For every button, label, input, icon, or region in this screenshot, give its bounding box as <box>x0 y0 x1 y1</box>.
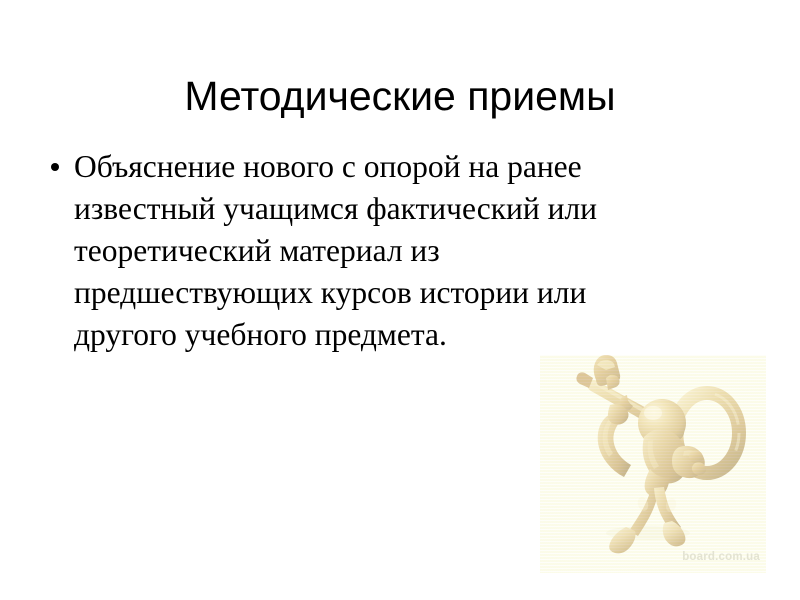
body-content: Объяснение нового с опорой на ранее изве… <box>48 146 688 356</box>
page-title: Методические приемы <box>40 71 760 121</box>
figure-legs <box>609 487 685 553</box>
list-item-label: Объяснение нового с опорой на ранее изве… <box>74 146 684 356</box>
golden-key-figure-image: board.com.ua <box>540 355 766 573</box>
key-bit <box>576 355 620 390</box>
figure-raised-arm <box>598 404 631 477</box>
image-watermark: board.com.ua <box>682 551 760 563</box>
golden-key-figure-illustration <box>540 355 766 573</box>
list-item: Объяснение нового с опорой на ранее изве… <box>48 146 688 356</box>
slide-canvas: Методические приемы Объяснение нового с … <box>0 0 800 600</box>
figure-lower-arm <box>672 446 706 478</box>
figure-foot-right <box>663 521 686 546</box>
bullet-dot-icon <box>51 163 59 171</box>
